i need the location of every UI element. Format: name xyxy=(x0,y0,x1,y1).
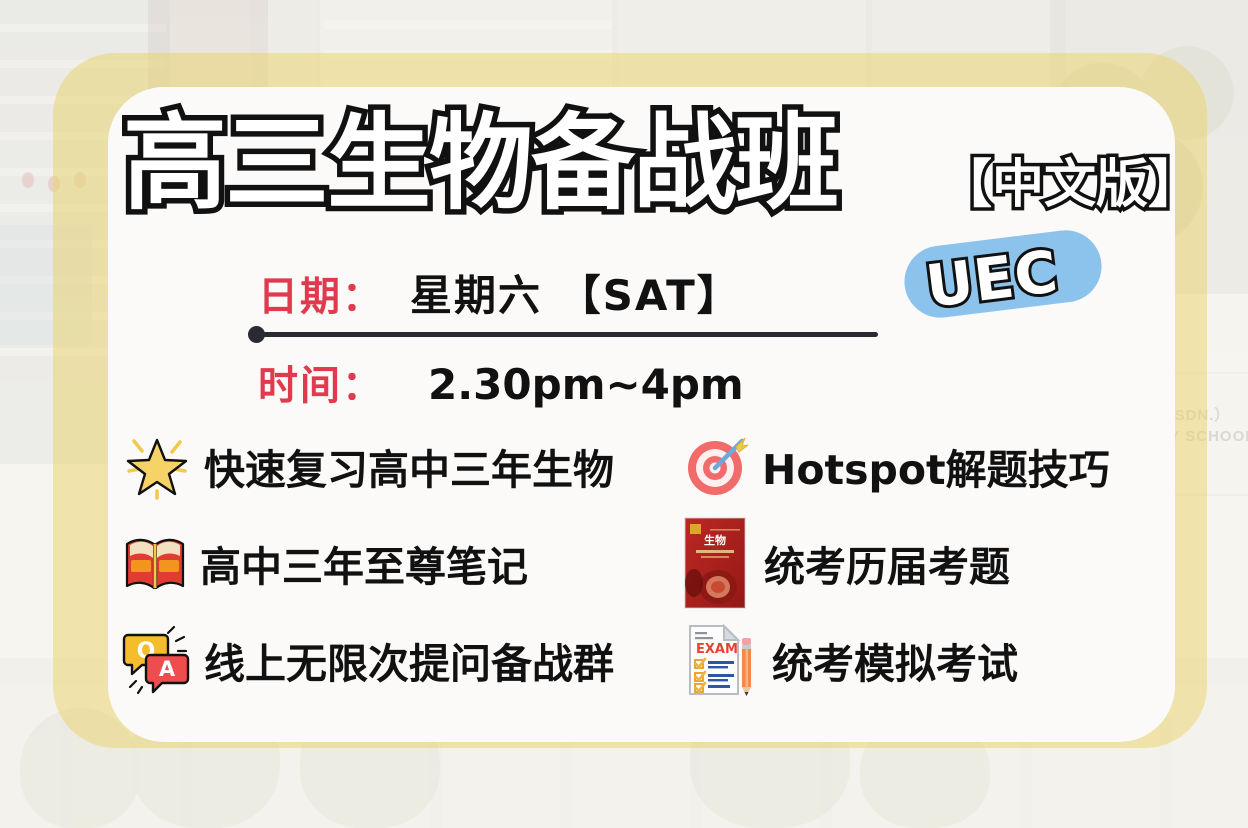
open-book-icon xyxy=(122,530,188,596)
feature-item: 快速复习高中三年生物 xyxy=(108,431,684,501)
svg-text:A: A xyxy=(159,657,176,681)
biology-book-cover-icon: 生物 xyxy=(684,517,746,609)
feature-row: 快速复习高中三年生物 Hotspot解题技巧 xyxy=(108,417,1175,514)
svg-text:EXAM: EXAM xyxy=(696,642,738,657)
feature-label: 快速复习高中三年生物 xyxy=(204,436,614,496)
schedule-time-row: 时间： 2.30pm~4pm xyxy=(248,353,1038,411)
date-label: 日期： xyxy=(258,264,384,322)
title-language-tag: 【中文版】 xyxy=(940,159,1200,211)
schedule-divider xyxy=(248,325,1038,339)
time-value: 2.30pm~4pm xyxy=(428,360,744,409)
feature-label: Hotspot解题技巧 xyxy=(762,436,1110,496)
date-value: 星期六 【SAT】 xyxy=(410,262,741,323)
feature-label: 高中三年至尊笔记 xyxy=(200,533,528,593)
poster-card: 高三生物备战班 【中文版】 UEC 日期： 星期六 【SAT】 时间： 2.30… xyxy=(108,87,1175,742)
feature-item: 高中三年至尊笔记 xyxy=(108,530,684,596)
feature-label: 统考模拟考试 xyxy=(772,630,1018,690)
divider-line xyxy=(256,332,878,337)
time-label: 时间： xyxy=(258,353,384,411)
exam-paper-pencil-icon: EXAM xyxy=(684,620,756,700)
svg-text:生物: 生物 xyxy=(704,533,726,547)
feature-item: Q A 线上无限次提问备战群 xyxy=(108,625,684,695)
dart-target-icon xyxy=(684,433,750,499)
feature-label: 统考历届考题 xyxy=(764,533,1010,593)
feature-item: Hotspot解题技巧 xyxy=(684,433,1164,499)
glowing-star-icon xyxy=(122,431,192,501)
schedule-block: 日期： 星期六 【SAT】 时间： 2.30pm~4pm xyxy=(248,262,1038,411)
feature-row: Q A 线上无限次提问备战群 EXAM xyxy=(108,611,1175,708)
schedule-date-row: 日期： 星期六 【SAT】 xyxy=(248,262,1038,323)
feature-row: 高中三年至尊笔记 生物 xyxy=(108,514,1175,611)
qa-speech-bubbles-icon: Q A xyxy=(122,625,192,695)
title-area: 高三生物备战班 【中文版】 xyxy=(108,97,1175,237)
feature-item: EXAM xyxy=(684,620,1164,700)
feature-label: 线上无限次提问备战群 xyxy=(204,630,614,690)
feature-list: 快速复习高中三年生物 Hotspot解题技巧 xyxy=(108,417,1175,708)
feature-item: 生物 统考历届考题 xyxy=(684,517,1164,609)
page-title: 高三生物备战班 xyxy=(123,111,837,215)
